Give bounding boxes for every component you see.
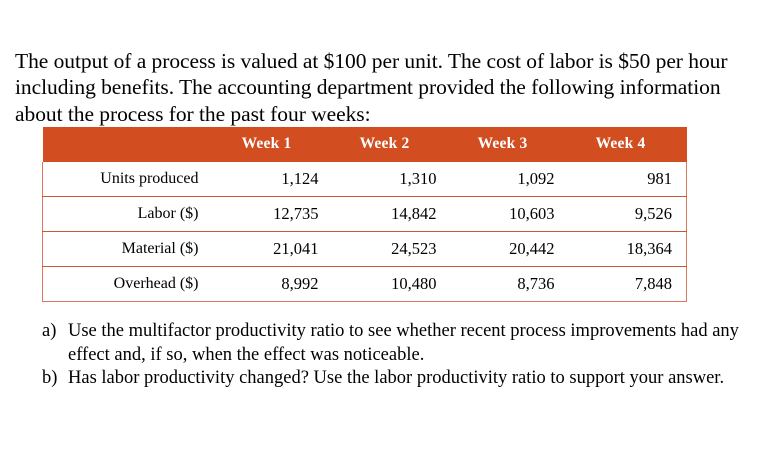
question-text-a: Use the multifactor productivity ratio t… <box>68 320 742 367</box>
table-row: Units produced 1,124 1,310 1,092 981 <box>43 162 687 197</box>
questions-list: a) Use the multifactor productivity rati… <box>42 320 742 391</box>
table-header-row: Week 1 Week 2 Week 3 Week 4 <box>43 127 687 162</box>
cell-material-week-3: 20,442 <box>451 232 569 267</box>
process-data-table-container: Week 1 Week 2 Week 3 Week 4 Units produc… <box>42 127 686 302</box>
table-row: Overhead ($) 8,992 10,480 8,736 7,848 <box>43 267 687 302</box>
column-header-week-4: Week 4 <box>569 127 687 162</box>
row-label-labor: Labor ($) <box>43 197 215 232</box>
cell-material-week-2: 24,523 <box>333 232 451 267</box>
table-row: Material ($) 21,041 24,523 20,442 18,364 <box>43 232 687 267</box>
cell-labor-week-4: 9,526 <box>569 197 687 232</box>
cell-units-produced-week-2: 1,310 <box>333 162 451 197</box>
process-data-table: Week 1 Week 2 Week 3 Week 4 Units produc… <box>42 127 687 302</box>
cell-overhead-week-1: 8,992 <box>215 267 333 302</box>
cell-labor-week-2: 14,842 <box>333 197 451 232</box>
cell-units-produced-week-4: 981 <box>569 162 687 197</box>
cell-overhead-week-3: 8,736 <box>451 267 569 302</box>
table-body: Units produced 1,124 1,310 1,092 981 Lab… <box>43 162 687 302</box>
cell-material-week-4: 18,364 <box>569 232 687 267</box>
cell-overhead-week-2: 10,480 <box>333 267 451 302</box>
column-header-week-3: Week 3 <box>451 127 569 162</box>
problem-statement: The output of a process is valued at $10… <box>15 48 757 128</box>
table-row: Labor ($) 12,735 14,842 10,603 9,526 <box>43 197 687 232</box>
question-item-a: a) Use the multifactor productivity rati… <box>42 320 742 367</box>
question-item-b: b) Has labor productivity changed? Use t… <box>42 367 742 391</box>
column-header-week-1: Week 1 <box>215 127 333 162</box>
question-text-b: Has labor productivity changed? Use the … <box>68 367 742 391</box>
row-label-units-produced: Units produced <box>43 162 215 197</box>
cell-labor-week-3: 10,603 <box>451 197 569 232</box>
table-header: Week 1 Week 2 Week 3 Week 4 <box>43 127 687 162</box>
cell-labor-week-1: 12,735 <box>215 197 333 232</box>
table-corner-cell <box>43 127 215 162</box>
cell-overhead-week-4: 7,848 <box>569 267 687 302</box>
column-header-week-2: Week 2 <box>333 127 451 162</box>
cell-units-produced-week-1: 1,124 <box>215 162 333 197</box>
cell-units-produced-week-3: 1,092 <box>451 162 569 197</box>
row-label-overhead: Overhead ($) <box>43 267 215 302</box>
row-label-material: Material ($) <box>43 232 215 267</box>
question-marker-b: b) <box>42 367 68 391</box>
problem-page: The output of a process is valued at $10… <box>0 0 772 450</box>
question-marker-a: a) <box>42 320 68 344</box>
cell-material-week-1: 21,041 <box>215 232 333 267</box>
